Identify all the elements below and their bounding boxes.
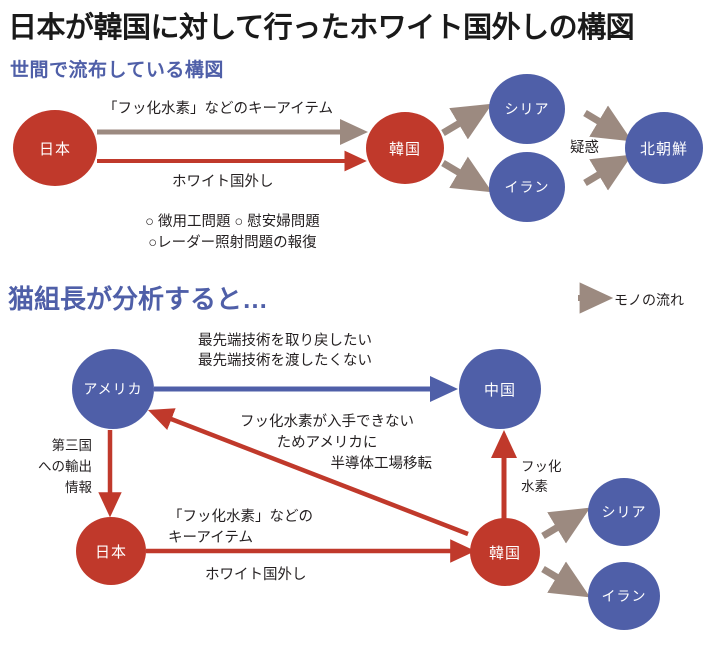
node-iran-d2[interactable]: イラン <box>588 562 660 630</box>
label-third-country-line2: への輸出 <box>12 459 92 476</box>
node-label: 北朝鮮 <box>640 138 688 159</box>
node-label: シリア <box>602 502 647 522</box>
node-japan-d1[interactable]: 日本 <box>13 110 97 186</box>
label-semiconductor-line2: ためアメリカに <box>222 434 432 452</box>
label-tech-line2: 最先端技術を渡したくない <box>160 352 410 370</box>
node-korea-d1[interactable]: 韓国 <box>366 112 444 184</box>
node-label: イラン <box>602 586 647 606</box>
label-key-items-d1: 「フッ化水素」などのキーアイテム <box>103 100 333 118</box>
node-label: 日本 <box>39 138 71 159</box>
label-semiconductor-line1: フッ化水素が入手できない <box>222 413 432 431</box>
label-third-country-line3: 情報 <box>12 480 92 497</box>
label-white-list-removal-d2: ホワイト国外し <box>205 566 307 584</box>
node-korea-d2[interactable]: 韓国 <box>470 518 540 586</box>
label-hydrogen-fluoride-line2: 水素 <box>521 479 548 496</box>
bullet-item-2: ○レーダー照射問題の報復 <box>110 234 355 252</box>
diagram1-subtitle: 世間で流布している構図 <box>10 55 224 82</box>
node-label: アメリカ <box>83 379 142 399</box>
arrow-syria-to-north-korea <box>585 113 625 137</box>
bullet-item-1: ○ 徴用工問題 ○ 慰安婦問題 <box>110 213 355 231</box>
diagram2-heading: 猫組長が分析すると… <box>8 279 268 316</box>
label-semiconductor-line3: 半導体工場移転 <box>222 455 432 473</box>
arrow-korea-to-syria-2 <box>543 512 583 536</box>
node-label: 韓国 <box>489 542 521 563</box>
node-label: 中国 <box>484 379 516 400</box>
arrow-korea-to-iran-2 <box>543 569 583 593</box>
node-japan-d2[interactable]: 日本 <box>76 517 146 585</box>
label-third-country-line1: 第三国 <box>12 438 92 455</box>
node-iran-d1[interactable]: イラン <box>489 152 565 222</box>
page-title: 日本が韓国に対して行ったホワイト国外しの構図 <box>8 4 702 46</box>
label-white-list-removal-d1: ホワイト国外し <box>172 173 274 191</box>
node-label: イラン <box>505 177 550 197</box>
label-suspicion-d1: 疑惑 <box>570 139 599 157</box>
node-china-d2[interactable]: 中国 <box>459 349 541 429</box>
node-north-korea-d1[interactable]: 北朝鮮 <box>625 112 703 184</box>
node-syria-d1[interactable]: シリア <box>489 74 565 144</box>
legend-label: モノの流れ <box>614 290 684 310</box>
node-label: 韓国 <box>389 138 421 159</box>
label-key-items-line2-d2: キーアイテム <box>168 529 253 547</box>
node-america-d2[interactable]: アメリカ <box>72 349 154 429</box>
label-hydrogen-fluoride-line1: フッ化 <box>521 459 562 476</box>
node-label: 日本 <box>95 541 127 562</box>
arrow-korea-to-syria <box>443 108 485 133</box>
arrow-korea-to-iran <box>443 163 485 188</box>
node-label: シリア <box>505 99 550 119</box>
arrow-iran-to-north-korea <box>585 159 625 183</box>
label-tech-line1: 最先端技術を取り戻したい <box>160 332 410 350</box>
node-syria-d2[interactable]: シリア <box>588 478 660 546</box>
label-key-items-line1-d2: 「フッ化水素」などの <box>168 508 313 526</box>
